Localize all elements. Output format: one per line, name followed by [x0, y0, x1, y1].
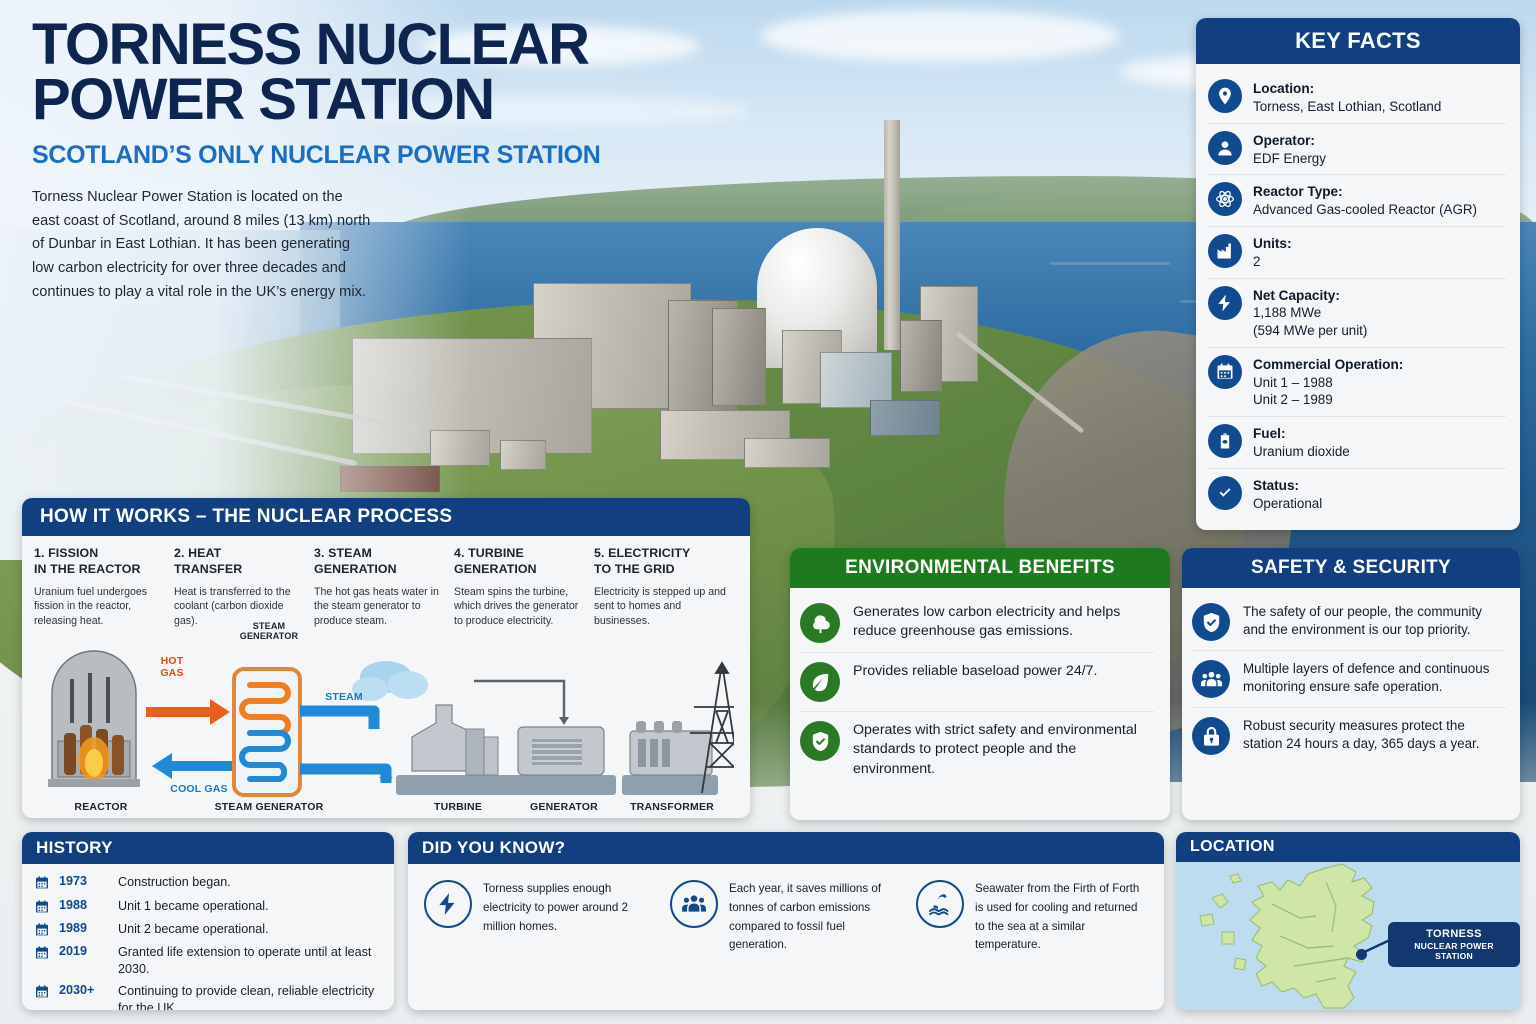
process-step: 2. HEAT TRANSFER Heat is transferred to …	[174, 546, 306, 629]
cloud	[760, 10, 1120, 62]
wave-icon	[916, 880, 964, 928]
calendar-icon	[34, 922, 50, 938]
process-step-desc: Uranium fuel undergoes fission in the re…	[34, 585, 166, 629]
benefit-item: Provides reliable baseload power 24/7.	[800, 653, 1154, 712]
hot-gas-arrow	[146, 699, 230, 725]
calendar-icon	[34, 899, 50, 915]
key-fact-value: Uranium dioxide	[1253, 444, 1350, 459]
did-you-know-heading: DID YOU KNOW?	[408, 832, 1164, 864]
process-step-desc: Electricity is stepped up and sent to ho…	[594, 585, 726, 629]
history-row: 1973 Construction began.	[34, 871, 382, 894]
key-fact-label: Status:	[1253, 477, 1322, 495]
key-fact-value: Torness, East Lothian, Scotland	[1253, 99, 1441, 114]
key-fact-label: Units:	[1253, 235, 1292, 253]
people-icon	[670, 880, 718, 928]
how-it-works-heading: HOW IT WORKS – THE NUCLEAR PROCESS	[22, 498, 750, 536]
history-row: 2019 Granted life extension to operate u…	[34, 941, 382, 980]
people-icon	[1192, 660, 1230, 698]
key-fact-row: Location:Torness, East Lothian, Scotland	[1208, 72, 1506, 124]
location-pin-icon	[1208, 79, 1242, 113]
history-row: 2030+ Continuing to provide clean, relia…	[34, 980, 382, 1010]
history-year: 1973	[59, 874, 109, 888]
diagram-label-steam: STEAM	[319, 691, 369, 703]
environmental-benefits-list: Generates low carbon electricity and hel…	[790, 588, 1170, 794]
turbine-graphic	[396, 705, 520, 795]
factory-icon	[1208, 234, 1242, 268]
process-step: 5. ELECTRICITY TO THE GRID Electricity i…	[594, 546, 726, 629]
fact-text: Each year, it saves millions of tonnes o…	[729, 880, 902, 955]
process-step-desc: Steam spins the turbine, which drives th…	[454, 585, 586, 629]
key-fact-value: Operational	[1253, 496, 1322, 511]
benefit-item: Operates with strict safety and environm…	[800, 712, 1154, 788]
key-fact-value: Advanced Gas-cooled Reactor (AGR)	[1253, 202, 1477, 217]
process-step-title: 5. ELECTRICITY TO THE GRID	[594, 546, 726, 578]
chimney-stack	[884, 120, 900, 350]
leaf-icon	[800, 662, 840, 702]
key-fact-value: Unit 1 – 1988 Unit 2 – 1989	[1253, 375, 1333, 408]
key-fact-row: Reactor Type:Advanced Gas-cooled Reactor…	[1208, 175, 1506, 227]
page-title: TORNESS NUCLEAR POWER STATION	[32, 18, 732, 127]
steam-generator-graphic	[234, 669, 300, 795]
cool-gas-arrow	[152, 753, 234, 779]
calendar-icon	[34, 984, 50, 1000]
did-you-know-list: Torness supplies enough electricity to p…	[408, 864, 1164, 971]
process-step-title: 4. TURBINE GENERATION	[454, 546, 586, 578]
key-fact-row: Commercial Operation:Unit 1 – 1988 Unit …	[1208, 348, 1506, 417]
benefit-text: Operates with strict safety and environm…	[853, 721, 1154, 779]
history-year: 1988	[59, 898, 109, 912]
process-steps: 1. FISSION IN THE REACTOR Uranium fuel u…	[34, 546, 738, 629]
location-panel: LOCATION TORNESS NUCLEAR POWER STATION	[1176, 832, 1520, 1010]
key-fact-label: Location:	[1253, 80, 1441, 98]
history-panel: HISTORY 1973 Construction began. 1988 Un…	[22, 832, 394, 1010]
benefit-item: Generates low carbon electricity and hel…	[800, 594, 1154, 653]
key-facts-list: Location:Torness, East Lothian, Scotland…	[1196, 64, 1520, 529]
history-year: 2030+	[59, 983, 109, 997]
map-marker-subtitle: NUCLEAR POWER STATION	[1398, 941, 1510, 961]
fact-item: Torness supplies enough electricity to p…	[424, 880, 656, 955]
key-fact-row: Status:Operational	[1208, 469, 1506, 520]
history-heading: HISTORY	[22, 832, 394, 864]
map-marker-label: TORNESS NUCLEAR POWER STATION	[1388, 922, 1520, 967]
safety-text: The safety of our people, the community …	[1243, 603, 1506, 639]
safety-security-list: The safety of our people, the community …	[1182, 588, 1520, 770]
reactor-graphic	[48, 651, 140, 787]
diagram-label-generator: GENERATOR	[524, 801, 604, 813]
tree-icon	[800, 603, 840, 643]
intro-paragraph: Torness Nuclear Power Station is located…	[32, 186, 372, 304]
process-step: 1. FISSION IN THE REACTOR Uranium fuel u…	[34, 546, 166, 629]
atom-icon	[1208, 182, 1242, 216]
process-diagram: STEAM GENERATOR HOT GAS COOL GAS STEAM R…	[34, 633, 738, 813]
did-you-know-panel: DID YOU KNOW? Torness supplies enough el…	[408, 832, 1164, 1010]
key-fact-label: Commercial Operation:	[1253, 356, 1403, 374]
safety-text: Robust security measures protect the sta…	[1243, 717, 1506, 753]
key-fact-row: Net Capacity:1,188 MWe (594 MWe per unit…	[1208, 279, 1506, 348]
fact-text: Seawater from the Firth of Forth is used…	[975, 880, 1148, 955]
diagram-label-turbine: TURBINE	[418, 801, 498, 813]
map-marker-dot	[1356, 949, 1367, 960]
key-fact-row: Fuel:Uranium dioxide	[1208, 417, 1506, 469]
history-desc: Construction began.	[118, 874, 231, 890]
shield-check-icon	[800, 721, 840, 761]
history-row: 1988 Unit 1 became operational.	[34, 894, 382, 917]
plant-building	[500, 440, 546, 470]
process-step-title: 3. STEAM GENERATION	[314, 546, 446, 578]
diagram-label-cool-gas: COOL GAS	[164, 783, 234, 795]
key-fact-value: EDF Energy	[1253, 151, 1326, 166]
process-step-title: 1. FISSION IN THE REACTOR	[34, 546, 166, 578]
diagram-label-reactor: REACTOR	[56, 801, 146, 813]
how-it-works-panel: HOW IT WORKS – THE NUCLEAR PROCESS 1. FI…	[22, 498, 750, 818]
bolt-icon	[1208, 286, 1242, 320]
key-fact-label: Net Capacity:	[1253, 287, 1367, 305]
safety-security-heading: SAFETY & SECURITY	[1182, 548, 1520, 588]
benefit-text: Generates low carbon electricity and hel…	[853, 603, 1154, 642]
safety-item: Robust security measures protect the sta…	[1192, 708, 1506, 764]
page-subtitle: SCOTLAND’S ONLY NUCLEAR POWER STATION	[32, 141, 732, 170]
history-row: 1989 Unit 2 became operational.	[34, 918, 382, 941]
bolt-icon	[424, 880, 472, 928]
lock-icon	[1192, 717, 1230, 755]
key-fact-label: Operator:	[1253, 132, 1326, 150]
process-diagram-svg	[34, 633, 734, 813]
steam-pipe	[300, 711, 393, 783]
key-fact-value: 2	[1253, 254, 1260, 269]
diagram-label-transformer: TRANSFORMER	[622, 801, 722, 813]
fuel-canister-icon	[1208, 424, 1242, 458]
key-fact-value: 1,188 MWe (594 MWe per unit)	[1253, 305, 1367, 338]
page-title-line2: POWER STATION	[32, 73, 732, 128]
header-block: TORNESS NUCLEAR POWER STATION SCOTLAND’S…	[32, 18, 732, 304]
plant-building	[900, 320, 942, 392]
history-desc: Unit 1 became operational.	[118, 898, 269, 914]
shield-check-icon	[1192, 603, 1230, 641]
environmental-benefits-panel: ENVIRONMENTAL BENEFITS Generates low car…	[790, 548, 1170, 820]
key-facts-heading: KEY FACTS	[1196, 18, 1520, 64]
calendar-icon	[1208, 355, 1242, 389]
environmental-benefits-heading: ENVIRONMENTAL BENEFITS	[790, 548, 1170, 588]
location-heading: LOCATION	[1176, 832, 1520, 862]
how-it-works-body: 1. FISSION IN THE REACTOR Uranium fuel u…	[22, 536, 750, 818]
scotland-map[interactable]: TORNESS NUCLEAR POWER STATION	[1176, 862, 1520, 1010]
map-marker-title: TORNESS	[1398, 928, 1510, 941]
diagram-label-steam-generator: STEAM GENERATOR	[202, 801, 336, 813]
fact-item: Each year, it saves millions of tonnes o…	[670, 880, 902, 955]
history-list: 1973 Construction began. 1988 Unit 1 bec…	[22, 864, 394, 1010]
key-fact-label: Reactor Type:	[1253, 183, 1477, 201]
page-title-line1: TORNESS NUCLEAR	[32, 18, 732, 73]
check-circle-icon	[1208, 476, 1242, 510]
key-fact-row: Units:2	[1208, 227, 1506, 279]
process-step-desc: The hot gas heats water in the steam gen…	[314, 585, 446, 629]
key-fact-row: Operator:EDF Energy	[1208, 124, 1506, 176]
safety-security-panel: SAFETY & SECURITY The safety of our peop…	[1182, 548, 1520, 820]
fact-item: Seawater from the Firth of Forth is used…	[916, 880, 1148, 955]
key-facts-panel: KEY FACTS Location:Torness, East Lothian…	[1196, 18, 1520, 530]
history-year: 1989	[59, 921, 109, 935]
process-step-title: 2. HEAT TRANSFER	[174, 546, 306, 578]
diagram-label-steam-generator-top: STEAM GENERATOR	[234, 621, 304, 641]
plant-building	[870, 400, 940, 436]
plant-building	[712, 308, 766, 406]
benefit-text: Provides reliable baseload power 24/7.	[853, 662, 1098, 681]
history-desc: Continuing to provide clean, reliable el…	[118, 983, 382, 1010]
history-year: 2019	[59, 944, 109, 958]
safety-item: Multiple layers of defence and continuou…	[1192, 651, 1506, 708]
history-desc: Granted life extension to operate until …	[118, 944, 382, 977]
fact-text: Torness supplies enough electricity to p…	[483, 880, 656, 955]
person-icon	[1208, 131, 1242, 165]
diagram-label-hot-gas: HOT GAS	[150, 655, 194, 679]
safety-text: Multiple layers of defence and continuou…	[1243, 660, 1506, 696]
history-desc: Unit 2 became operational.	[118, 921, 269, 937]
key-fact-label: Fuel:	[1253, 425, 1350, 443]
safety-item: The safety of our people, the community …	[1192, 594, 1506, 651]
process-step: 3. STEAM GENERATION The hot gas heats wa…	[314, 546, 446, 629]
process-step: 4. TURBINE GENERATION Steam spins the tu…	[454, 546, 586, 629]
plant-building	[744, 438, 830, 468]
calendar-icon	[34, 875, 50, 891]
calendar-icon	[34, 945, 50, 961]
